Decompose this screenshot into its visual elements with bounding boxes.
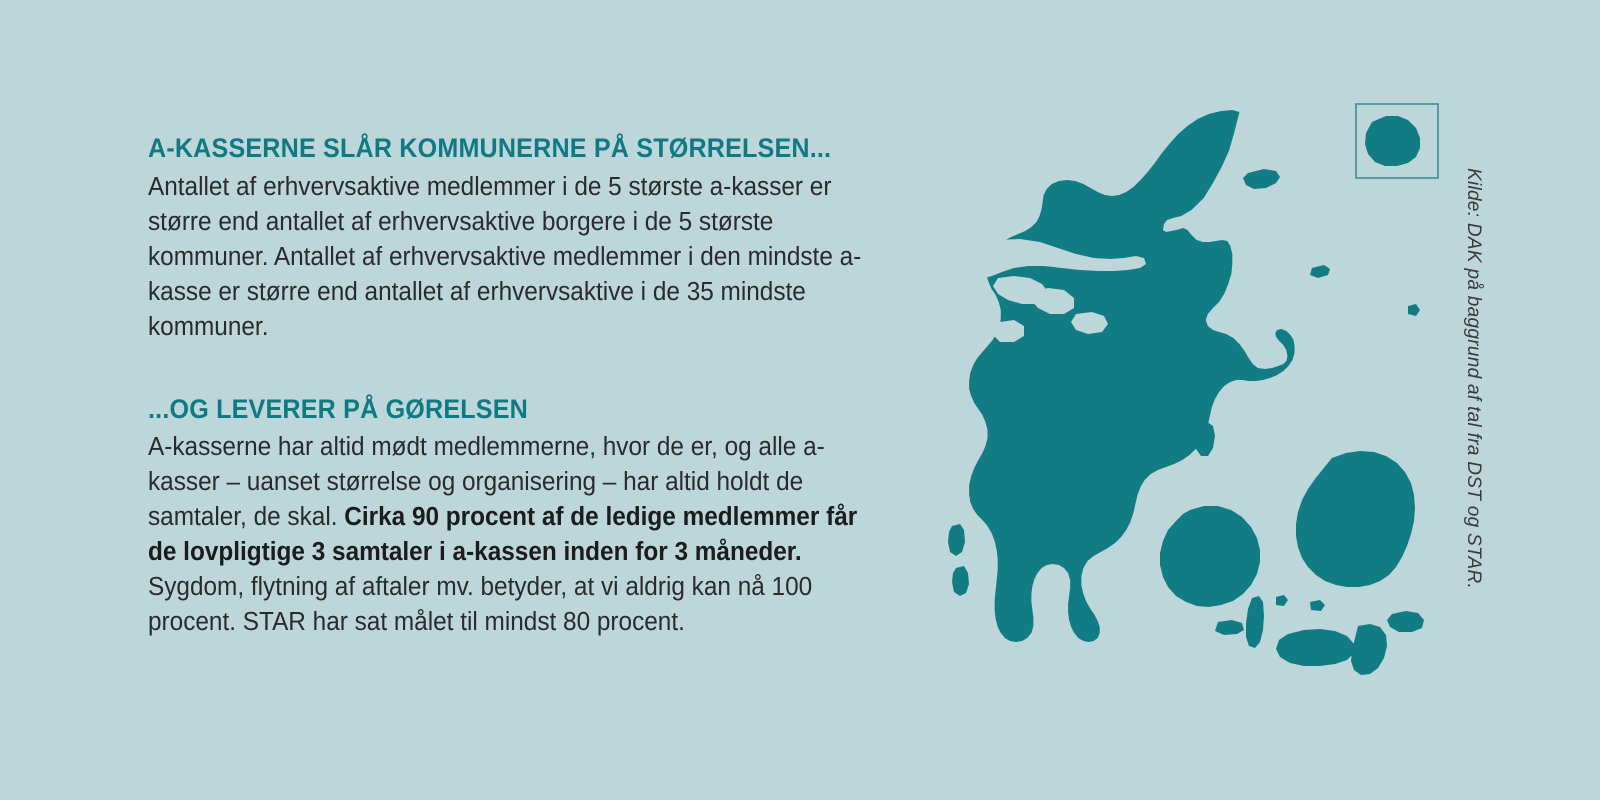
funen-island (1160, 506, 1260, 607)
block-1-heading: A-KASSERNE SLÅR KOMMUNERNE PÅ STØRRELSEN… (148, 134, 855, 164)
falster-island (1351, 624, 1387, 675)
moen-island (1387, 611, 1424, 632)
denmark-map (880, 78, 1450, 718)
text-block-1: A-KASSERNE SLÅR KOMMUNERNE PÅ STØRRELSEN… (148, 134, 908, 345)
aeroe-island (1215, 620, 1244, 635)
minor-islet-3 (1276, 595, 1288, 606)
source-credit: Kilde: DAK på baggrund af tal fra DST og… (1462, 168, 1484, 618)
minor-islet-5 (1408, 304, 1420, 316)
block-1-body: Antallet af erhvervsaktive medlemmer i d… (148, 170, 874, 345)
langeland-island (1246, 596, 1264, 648)
laesoe-island (1243, 169, 1280, 189)
minor-islet-4 (1310, 600, 1325, 611)
zealand-island (1296, 451, 1415, 587)
anholt-island (1310, 265, 1330, 278)
lolland-island (1276, 629, 1354, 666)
block-2-body: A-kasserne har altid mødt medlemmerne, h… (148, 430, 874, 640)
text-column: A-KASSERNE SLÅR KOMMUNERNE PÅ STØRRELSEN… (148, 134, 908, 640)
infographic-canvas: A-KASSERNE SLÅR KOMMUNERNE PÅ STØRRELSEN… (0, 0, 1600, 800)
text-block-2: ...OG LEVERER PÅ GØRELSEN A-kasserne har… (148, 395, 908, 641)
denmark-map-svg (880, 78, 1450, 718)
block-2-heading: ...OG LEVERER PÅ GØRELSEN (148, 395, 855, 425)
bornholm-island (1365, 116, 1420, 166)
fanoe-island (948, 524, 965, 556)
denmark-landmass (948, 110, 1424, 675)
roemoe-island (952, 566, 969, 596)
